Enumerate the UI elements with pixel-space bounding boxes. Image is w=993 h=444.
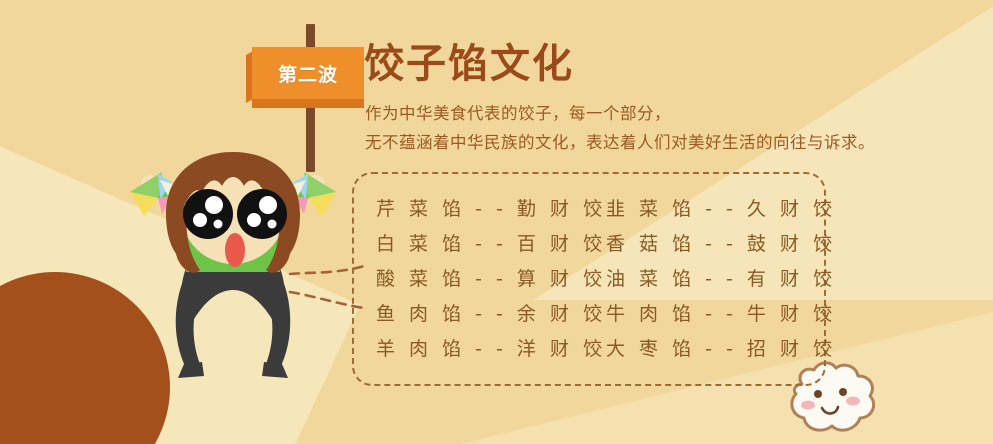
girl-mouth [225,233,245,267]
list-item: 羊 肉 馅 - - 洋 财 饺 大 枣 馅 - - 招 财 饺 [376,332,802,367]
list-item: 鱼 肉 馅 - - 余 财 饺 牛 肉 馅 - - 牛 财 饺 [376,297,802,332]
filling-right-5: 大 枣 馅 - - 招 财 饺 [606,332,840,367]
list-item: 芹 菜 馅 - - 勤 财 饺 韭 菜 馅 - - 久 财 饺 [376,192,802,227]
list-item: 白 菜 馅 - - 百 财 饺 香 菇 馅 - - 鼓 财 饺 [376,227,802,262]
filling-right-1: 韭 菜 馅 - - 久 财 饺 [606,192,840,227]
dumpling-eye-left [814,390,822,398]
infographic-canvas: 第二波 饺子馅文化 作为中华美食代表的饺子，每一个部分， 无不蕴涵着中华民族的文… [0,0,993,444]
sign-board-shadow [252,99,364,108]
filling-left-5: 羊 肉 馅 - - 洋 财 饺 [376,332,606,367]
sign-label: 第二波 [278,60,338,87]
girl-illustration [128,150,353,385]
filling-left-2: 白 菜 馅 - - 百 财 饺 [376,227,606,262]
filling-right-2: 香 菇 馅 - - 鼓 财 饺 [606,227,840,262]
filling-right-4: 牛 肉 馅 - - 牛 财 饺 [606,297,840,332]
description-line-1: 作为中华美食代表的饺子，每一个部分， [365,99,985,128]
filling-left-3: 酸 菜 馅 - - 算 财 饺 [376,262,606,297]
filling-left-1: 芹 菜 馅 - - 勤 财 饺 [376,192,606,227]
girl-pants [181,268,285,330]
filling-list: 芹 菜 馅 - - 勤 财 饺 韭 菜 馅 - - 久 财 饺 白 菜 馅 - … [354,174,824,384]
filling-list-box: 芹 菜 馅 - - 勤 财 饺 韭 菜 馅 - - 久 财 饺 白 菜 馅 - … [352,172,826,386]
page-description: 作为中华美食代表的饺子，每一个部分， 无不蕴涵着中华民族的文化，表达着人们对美好… [365,99,985,157]
description-line-2: 无不蕴涵着中华民族的文化，表达着人们对美好生活的向往与诉求。 [365,128,985,157]
dumpling-blush-right [846,397,860,406]
dumpling-blush-left [801,401,815,410]
page-title: 饺子馅文化 [364,44,574,84]
list-item: 酸 菜 馅 - - 算 财 饺 油 菜 馅 - - 有 财 饺 [376,262,802,297]
filling-left-4: 鱼 肉 馅 - - 余 财 饺 [376,297,606,332]
dumpling-eye-right [839,388,847,396]
sign-board: 第二波 [252,47,364,99]
girl-eye-right [237,189,287,239]
girl-eye-left [183,189,233,239]
filling-right-3: 油 菜 馅 - - 有 财 饺 [606,262,840,297]
